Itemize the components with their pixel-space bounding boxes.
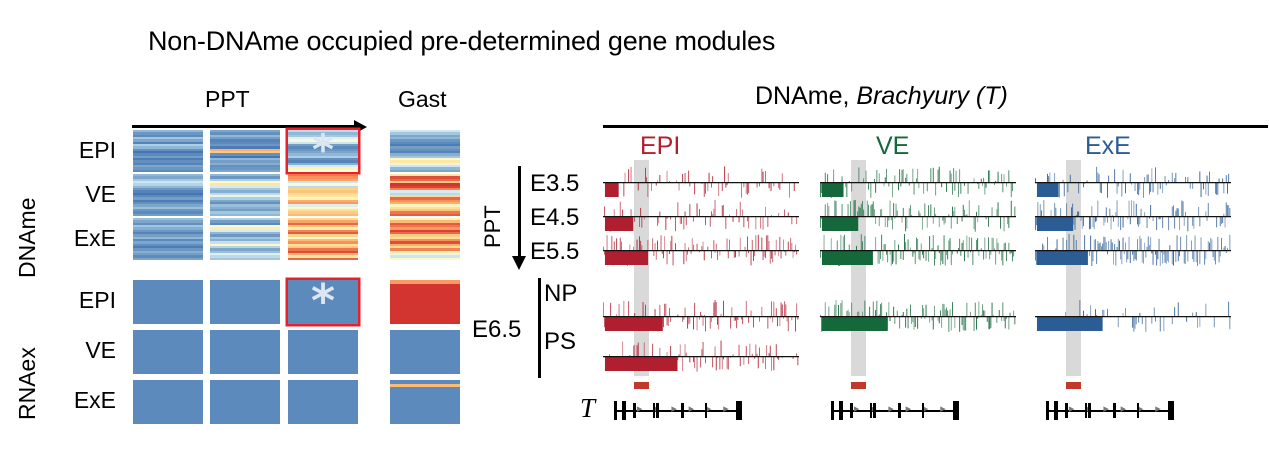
intron-direction-arrow-icon: ▸ <box>723 404 729 415</box>
exon <box>1113 403 1116 418</box>
exon <box>953 401 958 420</box>
heatmap-stripe <box>390 420 460 424</box>
exon <box>1065 403 1068 418</box>
intron-direction-arrow-icon: ▸ <box>940 404 946 415</box>
intron-direction-arrow-icon: ▸ <box>689 404 695 415</box>
exon <box>633 403 636 418</box>
exon <box>622 401 626 420</box>
gene-model-epi[interactable]: ▸▸▸▸▸▸ <box>603 398 799 424</box>
exon <box>898 403 901 418</box>
cpg-island-bar-ve <box>851 382 866 389</box>
intron-direction-arrow-icon: ▸ <box>1155 404 1161 415</box>
methylation-track-epi-e35[interactable] <box>603 166 799 198</box>
intron-direction-arrow-icon: ▸ <box>1121 404 1127 415</box>
exon <box>873 403 876 418</box>
intron-direction-arrow-icon: ▸ <box>671 404 677 415</box>
methylation-track-ve-e45[interactable] <box>820 200 1016 232</box>
exon <box>1168 401 1173 420</box>
page-title: Non-DNAme occupied pre-determined gene m… <box>148 26 775 57</box>
heatmap-grid: ** <box>0 80 500 440</box>
heatmap-cell-rnaex-ve-gast[interactable] <box>390 330 460 374</box>
heatmap-cell-dname-ve-gast[interactable] <box>390 174 460 216</box>
exon <box>1088 403 1091 418</box>
heatmap-stripe <box>288 320 358 324</box>
heatmap-cell-dname-exe-ppt-1[interactable] <box>133 218 203 260</box>
methylation-track-exe-e45[interactable] <box>1035 200 1231 232</box>
heatmap-stripe <box>390 320 460 324</box>
exon <box>1085 403 1088 418</box>
methylation-track-exe-e35[interactable] <box>1035 166 1231 198</box>
exon <box>681 403 684 418</box>
methylation-track-ve-e55[interactable] <box>820 234 1016 266</box>
heatmap-cell-rnaex-exe-ppt-1[interactable] <box>133 380 203 424</box>
heatmap-cell-dname-exe-ppt-3[interactable] <box>288 218 358 260</box>
heatmap-stripe <box>390 214 460 216</box>
exon <box>653 403 656 418</box>
methylation-track-exe-e55[interactable] <box>1035 234 1231 266</box>
intron-direction-arrow-icon: ▸ <box>888 404 894 415</box>
methylation-track-exe-np[interactable] <box>1035 300 1231 332</box>
exon <box>850 403 853 418</box>
exon <box>870 403 873 418</box>
heatmap-stripe <box>288 214 358 216</box>
heatmap-cell-rnaex-epi-gast[interactable] <box>390 280 460 324</box>
heatmap-stripe <box>210 170 280 172</box>
methylation-track-epi-e55[interactable] <box>603 234 799 266</box>
heatmap-cell-rnaex-epi-ppt-3[interactable]: * <box>288 280 358 324</box>
heatmap-stripe <box>210 320 280 324</box>
heatmap-cell-rnaex-epi-ppt-2[interactable] <box>210 280 280 324</box>
intron-direction-arrow-icon: ▸ <box>906 404 912 415</box>
track-container: ▸▸▸▸▸▸▸▸▸▸▸▸▸▸▸▸▸▸ <box>470 78 1269 462</box>
heatmap-stripe <box>210 370 280 374</box>
heatmap-cell-dname-epi-gast[interactable] <box>390 130 460 172</box>
heatmap-stripe <box>288 370 358 374</box>
heatmap-stripe <box>288 258 358 260</box>
right-genome-browser-panel: DNAme, Brachyury (T) EPI VE ExE PPT E3.5… <box>470 78 1269 462</box>
heatmap-cell-dname-epi-ppt-2[interactable] <box>210 130 280 172</box>
exon <box>1054 401 1058 420</box>
gene-model-exe[interactable]: ▸▸▸▸▸▸ <box>1035 398 1231 424</box>
intron-direction-arrow-icon: ▸ <box>854 404 860 415</box>
heatmap-cell-dname-ve-ppt-1[interactable] <box>133 174 203 216</box>
heatmap-stripe <box>210 420 280 424</box>
gene-model-ve[interactable]: ▸▸▸▸▸▸ <box>820 398 1016 424</box>
heatmap-stripe <box>133 420 203 424</box>
heatmap-cell-dname-epi-ppt-1[interactable] <box>133 130 203 172</box>
heatmap-stripe <box>390 370 460 374</box>
heatmap-cell-rnaex-exe-gast[interactable] <box>390 380 460 424</box>
heatmap-stripe <box>210 214 280 216</box>
left-heatmap-panel: PPT Gast DNAme RNAex EPI VE ExE EPI VE E… <box>0 80 500 440</box>
exon <box>922 403 925 418</box>
cpg-island-bar-epi <box>634 382 649 389</box>
exon <box>1046 401 1049 420</box>
heatmap-cell-dname-epi-ppt-3[interactable]: * <box>288 130 358 172</box>
heatmap-cell-dname-exe-gast[interactable] <box>390 218 460 260</box>
heatmap-stripe <box>133 214 203 216</box>
intron-direction-arrow-icon: ▸ <box>1069 404 1075 415</box>
exon <box>736 401 741 420</box>
cpg-island-bar-exe <box>1066 382 1081 389</box>
heatmap-cell-rnaex-ve-ppt-1[interactable] <box>133 330 203 374</box>
methylation-track-epi-ps[interactable] <box>603 340 799 372</box>
methylation-track-ve-e35[interactable] <box>820 166 1016 198</box>
intron-direction-arrow-icon: ▸ <box>1103 404 1109 415</box>
exon <box>839 401 843 420</box>
heatmap-stripe <box>390 258 460 260</box>
heatmap-stripe <box>133 170 203 172</box>
intron-direction-arrow-icon: ▸ <box>637 404 643 415</box>
exon <box>614 401 617 420</box>
methylation-track-epi-e45[interactable] <box>603 200 799 232</box>
heatmap-stripe <box>288 420 358 424</box>
heatmap-stripe <box>210 258 280 260</box>
exon <box>656 403 659 418</box>
exon <box>831 401 834 420</box>
heatmap-stripe <box>390 170 460 172</box>
heatmap-stripe <box>133 258 203 260</box>
heatmap-cell-rnaex-ve-ppt-2[interactable] <box>210 330 280 374</box>
methylation-track-ve-np[interactable] <box>820 300 1016 332</box>
methylation-track-epi-np[interactable] <box>603 300 799 332</box>
heatmap-stripe <box>133 320 203 324</box>
heatmap-cell-dname-ve-ppt-2[interactable] <box>210 174 280 216</box>
heatmap-cell-rnaex-epi-ppt-1[interactable] <box>133 280 203 324</box>
heatmap-stripe <box>133 370 203 374</box>
heatmap-cell-dname-ve-ppt-3[interactable] <box>288 174 358 216</box>
heatmap-cell-rnaex-ve-ppt-3[interactable] <box>288 330 358 374</box>
heatmap-stripe <box>288 170 358 172</box>
heatmap-cell-dname-exe-ppt-2[interactable] <box>210 218 280 260</box>
heatmap-cell-rnaex-exe-ppt-2[interactable] <box>210 380 280 424</box>
exon <box>1137 403 1140 418</box>
heatmap-cell-rnaex-exe-ppt-3[interactable] <box>288 380 358 424</box>
exon <box>705 403 708 418</box>
